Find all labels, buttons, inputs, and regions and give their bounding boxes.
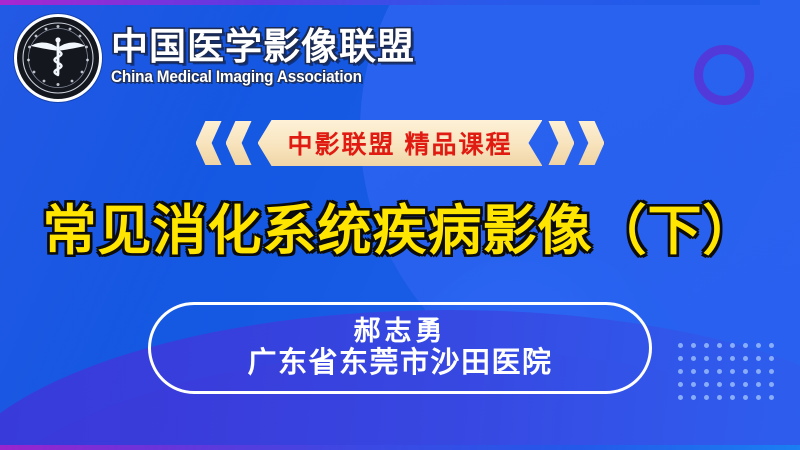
grid-dot [769, 369, 774, 374]
grid-dot [730, 382, 735, 387]
grid-dot [769, 395, 774, 400]
grid-dot [678, 382, 683, 387]
grid-dot [769, 382, 774, 387]
grid-dot [769, 356, 774, 361]
grid-dot [756, 382, 761, 387]
grid-dot [743, 382, 748, 387]
chevron-left-icon-inner [226, 121, 252, 165]
speaker-name: 郝志勇 [354, 316, 447, 346]
grid-dot [704, 395, 709, 400]
ribbon-body: 中影联盟 精品课程 [258, 120, 543, 166]
chevron-left-icon-outer [196, 121, 222, 165]
chevron-right-icon-inner [548, 121, 574, 165]
grid-dot [717, 395, 722, 400]
grid-dot [730, 356, 735, 361]
grid-dot [769, 343, 774, 348]
course-title: 常见消化系统疾病影像（下） [0, 186, 800, 265]
association-logo: 中国医学影像联盟 China Medical Imaging Associati… [14, 14, 415, 102]
grid-dot [678, 356, 683, 361]
grid-dot [678, 369, 683, 374]
ring-circle-icon [694, 45, 754, 105]
grid-dot [691, 369, 696, 374]
grid-dot [704, 369, 709, 374]
chevron-right-icon-outer [578, 121, 604, 165]
association-name-en: China Medical Imaging Association [111, 68, 394, 86]
grid-dot [743, 395, 748, 400]
grid-dot [704, 382, 709, 387]
grid-dot [691, 343, 696, 348]
grid-dot [756, 395, 761, 400]
grid-dot [704, 343, 709, 348]
grid-dot [756, 369, 761, 374]
grid-dot [678, 395, 683, 400]
dot-grid-decoration [678, 343, 782, 408]
association-name-cn: 中国医学影像联盟 [111, 28, 415, 67]
grid-dot [704, 356, 709, 361]
grid-dot [730, 395, 735, 400]
grid-dot [756, 343, 761, 348]
grid-dot [743, 369, 748, 374]
course-ribbon-banner: 中影联盟 精品课程 [0, 120, 800, 166]
grid-dot [717, 343, 722, 348]
association-logo-text: 中国医学影像联盟 China Medical Imaging Associati… [111, 28, 415, 87]
grid-dot [730, 343, 735, 348]
ribbon-label: 中影联盟 精品课程 [288, 125, 513, 161]
grid-dot [743, 356, 748, 361]
speaker-info-card: 郝志勇 广东省东莞市沙田医院 [148, 302, 652, 394]
grid-dot [743, 343, 748, 348]
grid-dot [717, 356, 722, 361]
grid-dot [678, 343, 683, 348]
grid-dot [756, 356, 761, 361]
grid-dot [730, 369, 735, 374]
caduceus-emblem-icon [14, 14, 102, 102]
grid-dot [717, 369, 722, 374]
bottom-gradient-strip [0, 445, 800, 450]
course-poster: 中国医学影像联盟 China Medical Imaging Associati… [0, 0, 800, 450]
grid-dot [691, 395, 696, 400]
grid-dot [691, 382, 696, 387]
grid-dot [691, 356, 696, 361]
top-gradient-strip [0, 0, 760, 5]
grid-dot [717, 382, 722, 387]
speaker-organization: 广东省东莞市沙田医院 [247, 347, 552, 379]
